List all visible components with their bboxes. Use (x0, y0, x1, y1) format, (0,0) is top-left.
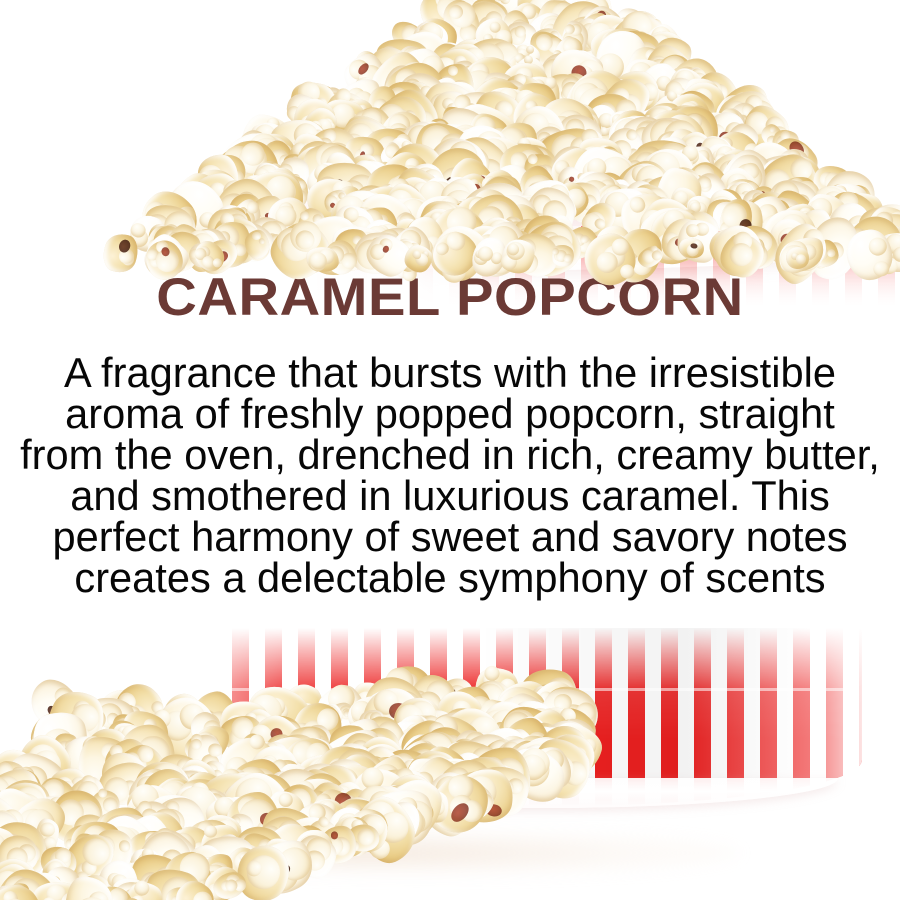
description-line: A fragrance that bursts with the irresis… (5, 352, 896, 393)
popcorn-lobe (827, 248, 836, 257)
popcorn-lobe (209, 743, 223, 757)
popcorn-lobe (358, 828, 375, 845)
description-line: creates a delectable symphony of scents (5, 557, 896, 598)
popcorn-lobe (686, 224, 699, 237)
description-line: perfect harmony of sweet and savory note… (5, 516, 896, 557)
popcorn-lobe (867, 236, 888, 257)
description-line: and smothered in luxurious caramel. This (5, 475, 896, 516)
popcorn-lobe (278, 792, 292, 806)
popcorn-lobe (300, 210, 310, 220)
product-description: A fragrance that bursts with the irresis… (0, 352, 900, 598)
popcorn-lobe (448, 66, 458, 76)
popcorn-kernel-heart (160, 246, 170, 257)
popcorn-lobe (796, 254, 806, 264)
popcorn-lobe (204, 825, 217, 838)
product-card: CARAMEL POPCORN A fragrance that bursts … (0, 0, 900, 900)
popcorn-lobe (118, 839, 132, 853)
description-line: aroma of freshly popped popcorn, straigh… (5, 393, 896, 434)
description-line: from the oven, drenched in rich, creamy … (5, 434, 896, 475)
popcorn-pile-top (110, 0, 900, 260)
popcorn-lobe (258, 238, 265, 245)
popcorn-pile-bottom (0, 660, 590, 900)
popcorn-lobe (40, 822, 55, 837)
popcorn-lobe (562, 253, 573, 264)
